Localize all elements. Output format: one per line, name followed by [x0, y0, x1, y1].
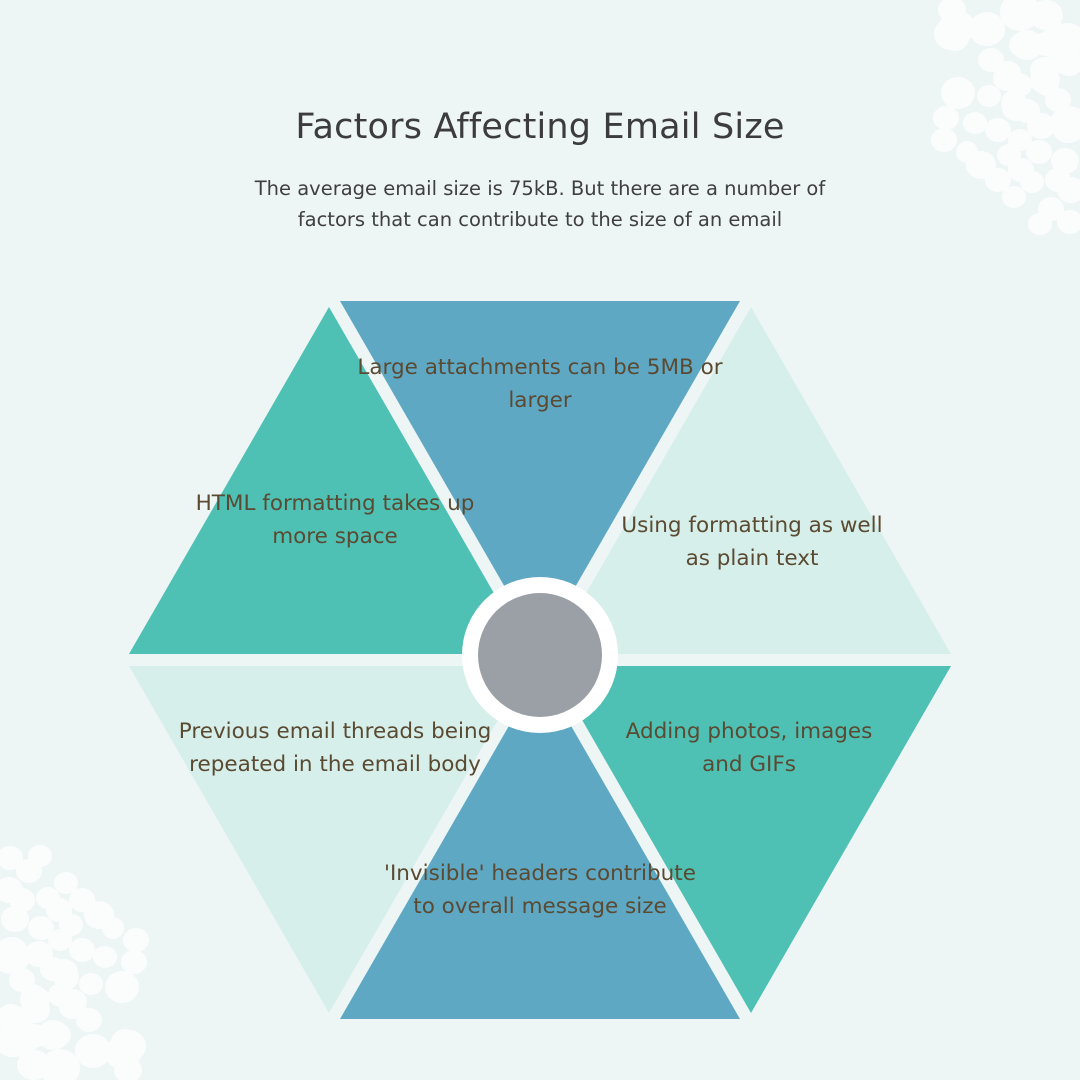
header-block: Factors Affecting Email Size The average… [0, 0, 1080, 236]
infographic-canvas: Factors Affecting Email Size The average… [0, 0, 1080, 1080]
center-hub-circle[interactable] [478, 593, 602, 717]
page-subtitle: The average email size is 75kB. But ther… [240, 148, 840, 236]
page-title: Factors Affecting Email Size [0, 0, 1080, 148]
